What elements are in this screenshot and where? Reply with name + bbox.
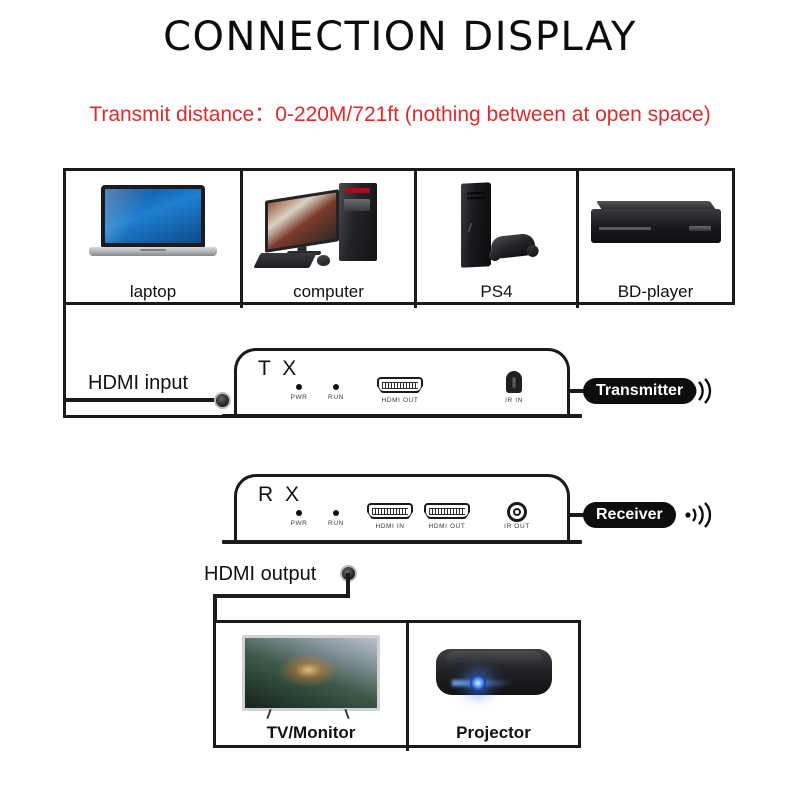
hdmi-input-label: HDMI input xyxy=(88,372,188,395)
projector-illustration xyxy=(436,649,552,695)
transmitter-model-label: T X xyxy=(258,357,299,381)
hdmi-output-label: HDMI output xyxy=(204,563,316,586)
source-device-label: PS4 xyxy=(417,282,576,302)
transmitter-run-label: RUN xyxy=(328,394,344,401)
hdmi-input-connector-dot xyxy=(214,392,231,409)
laptop-screen-icon xyxy=(101,185,205,247)
output-device-cell-tv: TV/Monitor xyxy=(216,623,406,751)
source-device-label: laptop xyxy=(66,282,240,302)
transmitter-run-led xyxy=(333,384,339,390)
receiver-pwr-led xyxy=(296,510,302,516)
source-device-cell-bd-player: BD-player xyxy=(576,171,732,308)
projector-lens-icon xyxy=(470,675,486,691)
hdmi-output-cable-vertical-b xyxy=(213,594,217,622)
source-device-cell-laptop: laptop xyxy=(66,171,240,308)
hdmi-output-cable-horizontal xyxy=(213,594,350,598)
transmitter-ir-in-port xyxy=(506,371,522,393)
hdmi-input-cable xyxy=(63,398,223,402)
pc-tower-icon xyxy=(339,183,377,261)
receiver-hdmi-out-port xyxy=(424,503,470,519)
output-device-row: TV/Monitor Projector xyxy=(213,620,581,748)
receiver-hdmi-out-label: HDMI OUT xyxy=(429,523,466,530)
monitor-icon xyxy=(265,189,339,253)
transmitter-hdmi-out-port xyxy=(377,377,423,393)
source-device-cell-computer: computer xyxy=(240,171,414,308)
receiver-run-label: RUN xyxy=(328,520,344,527)
transmitter-device: T X PWR RUN HDMI OUT IR IN xyxy=(234,348,570,414)
ps4-controller-icon xyxy=(490,233,536,259)
page-title: CONNECTION DISPLAY xyxy=(0,14,800,60)
ps4-console-illustration xyxy=(417,179,576,275)
receiver-base-line xyxy=(222,540,582,544)
transmitter-ir-in-label: IR IN xyxy=(505,397,523,404)
source-device-label: BD-player xyxy=(579,282,732,302)
receiver-hdmi-in-label: HDMI IN xyxy=(375,523,404,530)
receiver-hdmi-in-port xyxy=(367,503,413,519)
receiver-device: R X PWR RUN HDMI IN HDMI OUT IR OUT xyxy=(234,474,570,540)
receiver-wireless-waves-icon xyxy=(683,500,723,530)
desktop-computer-illustration xyxy=(243,179,414,275)
transmitter-badge: Transmitter xyxy=(583,378,696,404)
bluray-player-illustration xyxy=(579,179,732,275)
laptop-illustration xyxy=(66,179,240,275)
source-device-label: computer xyxy=(243,282,414,302)
output-device-cell-projector: Projector xyxy=(406,623,578,751)
receiver-run-led xyxy=(333,510,339,516)
mouse-icon xyxy=(317,255,330,266)
transmitter-pwr-label: PWR xyxy=(291,394,308,401)
transmitter-base-line xyxy=(222,414,582,418)
receiver-model-label: R X xyxy=(258,483,302,507)
receiver-ir-out-label: IR OUT xyxy=(504,523,530,530)
television-illustration xyxy=(242,635,380,711)
output-device-label: TV/Monitor xyxy=(216,723,406,743)
transmitter-pwr-led xyxy=(296,384,302,390)
transmit-distance-note: Transmit distance：0-220M/721ft (nothing … xyxy=(0,98,800,128)
laptop-base-icon xyxy=(89,247,217,256)
output-device-label: Projector xyxy=(409,723,578,743)
source-device-cell-ps4: PS4 xyxy=(414,171,576,308)
transmitter-hdmi-out-label: HDMI OUT xyxy=(382,397,419,404)
receiver-badge: Receiver xyxy=(583,502,676,528)
transmitter-wireless-waves-icon xyxy=(683,376,723,406)
source-device-row: laptop computer PS4 xyxy=(63,168,735,305)
input-frame-bottom-border xyxy=(63,415,233,418)
ps4-logo-icon xyxy=(468,223,485,232)
receiver-ir-out-port xyxy=(507,502,527,522)
keyboard-icon xyxy=(253,253,316,268)
bd-player-body-icon xyxy=(591,209,721,243)
connection-diagram: CONNECTION DISPLAY Transmit distance：0-2… xyxy=(0,0,800,800)
receiver-pwr-label: PWR xyxy=(291,520,308,527)
